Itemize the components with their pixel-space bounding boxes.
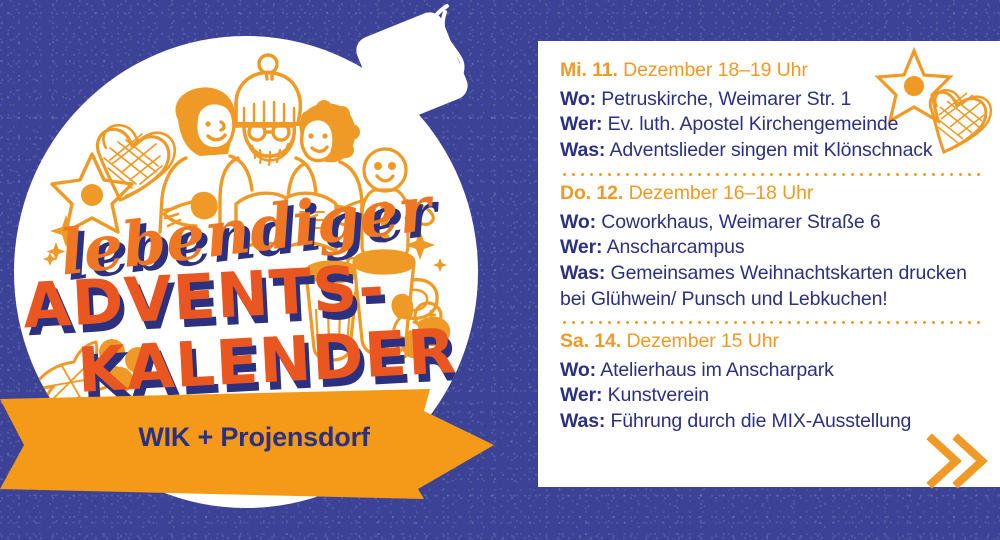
poster-root: lebendiger lebendiger ADVENTS- ADVENTS- … xyxy=(0,0,1000,540)
event-block-3: Sa. 14. Dezember 15 Uhr Wo: Atelierhaus … xyxy=(560,332,980,435)
event-2-was-row-line2: bei Glühwein/ Punsch und Lebkuchen! xyxy=(560,287,980,313)
event-2-wer-value: Anscharcampus xyxy=(607,236,745,258)
event-3-wo-label: Wo: xyxy=(560,359,596,381)
event-3-wo-value: Atelierhaus im Anscharpark xyxy=(600,359,833,381)
event-2-was-label: Was: xyxy=(560,262,605,284)
event-2-wo-value: Coworkhaus, Weimarer Straße 6 xyxy=(601,211,880,233)
event-3-date-bold: Sa. 14. xyxy=(560,330,621,352)
event-3-was-label: Was: xyxy=(560,410,605,432)
event-1-wo-row: Wo: Petruskirche, Weimarer Str. 1 xyxy=(560,87,980,113)
event-block-2: Do. 12. Dezember 16–18 Uhr Wo: Coworkhau… xyxy=(560,184,980,312)
event-3-wer-row: Wer: Kunstverein xyxy=(560,383,980,409)
event-1-wer-value: Ev. luth. Apostel Kirchengemeinde xyxy=(608,113,899,135)
event-3-wo-row: Wo: Atelierhaus im Anscharpark xyxy=(560,358,980,384)
event-1-date-rest: Dezember 18–19 Uhr xyxy=(623,59,808,81)
events-card: Mi. 11. Dezember 18–19 Uhr Wo: Petruskir… xyxy=(538,41,1000,487)
event-3-wer-label: Wer: xyxy=(560,384,602,406)
banner-label: WIK + Projensdorf xyxy=(104,424,404,451)
event-3-dateline: Sa. 14. Dezember 15 Uhr xyxy=(560,332,980,352)
event-1-wo-value: Petruskirche, Weimarer Str. 1 xyxy=(601,88,851,110)
event-1-dateline: Mi. 11. Dezember 18–19 Uhr xyxy=(560,61,980,81)
event-1-wer-row: Wer: Ev. luth. Apostel Kirchengemeinde xyxy=(560,112,980,138)
event-2-date-rest: Dezember 16–18 Uhr xyxy=(629,182,814,204)
event-block-1: Mi. 11. Dezember 18–19 Uhr Wo: Petruskir… xyxy=(560,61,980,164)
event-1-wo-label: Wo: xyxy=(560,88,596,110)
event-2-dateline: Do. 12. Dezember 16–18 Uhr xyxy=(560,184,980,204)
event-2-wer-label: Wer: xyxy=(560,236,602,258)
event-3-was-row: Was: Führung durch die MIX-Ausstellung xyxy=(560,409,980,435)
event-3-was-value: Führung durch die MIX-Ausstellung xyxy=(611,410,912,432)
separator-1 xyxy=(560,173,980,176)
event-2-wo-row: Wo: Coworkhaus, Weimarer Straße 6 xyxy=(560,210,980,236)
event-1-was-label: Was: xyxy=(560,139,605,161)
event-1-was-row: Was: Adventslieder singen mit Klönschnac… xyxy=(560,138,980,164)
event-3-wer-value: Kunstverein xyxy=(608,384,709,406)
event-2-wo-label: Wo: xyxy=(560,211,596,233)
event-2-was-value: Gemeinsames Weihnachtskarten drucken xyxy=(611,262,967,284)
event-2-wer-row: Wer: Anscharcampus xyxy=(560,235,980,261)
event-3-date-rest: Dezember 15 Uhr xyxy=(626,330,778,352)
event-1-was-value: Adventslieder singen mit Klönschnack xyxy=(609,139,932,161)
event-2-date-bold: Do. 12. xyxy=(560,182,623,204)
event-1-date-bold: Mi. 11. xyxy=(560,59,618,81)
separator-2 xyxy=(560,321,980,324)
event-2-was-row: Was: Gemeinsames Weihnachtskarten drucke… xyxy=(560,261,980,287)
double-chevron-right-icon xyxy=(922,431,992,491)
event-1-wer-label: Wer: xyxy=(560,113,602,135)
